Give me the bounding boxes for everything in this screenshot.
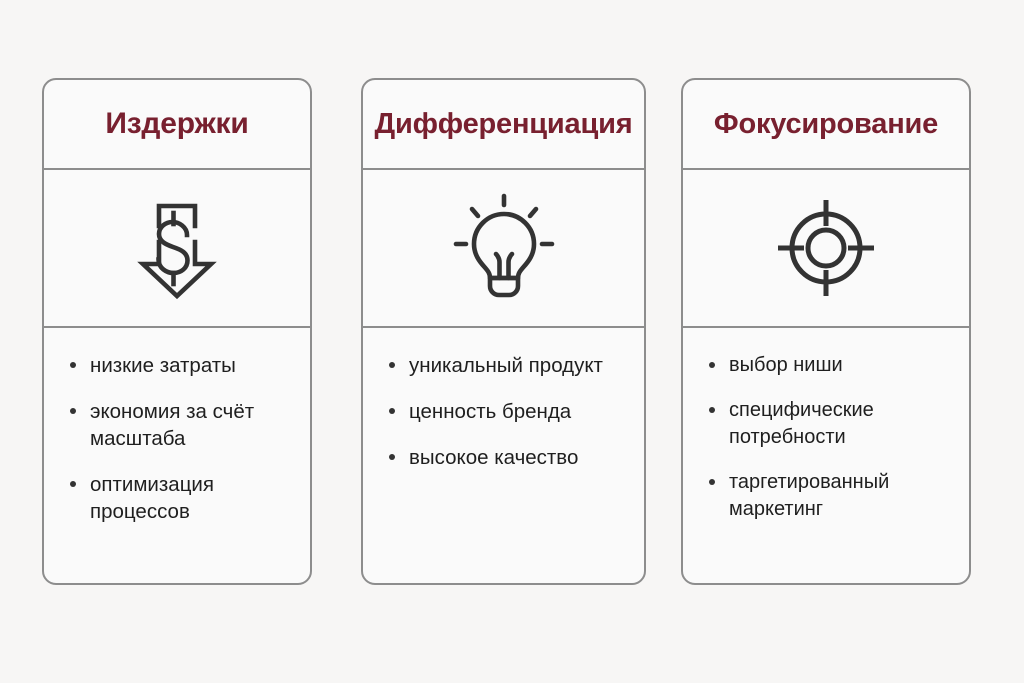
bullet-list: уникальный продукт ценность бренда высок… <box>377 352 630 471</box>
list-item: ценность бренда <box>377 398 630 425</box>
list-item: экономия за счёт масштаба <box>58 398 296 452</box>
list-item: оптимизация процессов <box>58 471 296 525</box>
card-bullet-section: уникальный продукт ценность бренда высок… <box>363 328 644 583</box>
bullet-list: выбор ниши специфические потребности тар… <box>697 352 955 522</box>
card-title: Дифференциация <box>375 108 633 141</box>
card-icon-section <box>683 170 969 328</box>
card-title: Издержки <box>105 107 248 141</box>
strategy-card-differentiation[interactable]: Дифференциация <box>361 78 646 585</box>
strategy-card-cost-leadership[interactable]: Издержки низкие затраты экономия за с <box>42 78 312 585</box>
card-icon-section <box>44 170 310 328</box>
bullet-list: низкие затраты экономия за счёт масштаба… <box>58 352 296 525</box>
card-title: Фокусирование <box>714 108 938 141</box>
lightbulb-icon <box>452 192 556 304</box>
strategy-cards-board: Издержки низкие затраты экономия за с <box>0 0 1024 683</box>
list-item: уникальный продукт <box>377 352 630 379</box>
crosshair-target-icon <box>774 196 878 300</box>
list-item: специфические потребности <box>697 397 955 450</box>
list-item: низкие затраты <box>58 352 296 379</box>
list-item: таргетированный маркетинг <box>697 469 955 522</box>
card-bullet-section: выбор ниши специфические потребности тар… <box>683 328 969 583</box>
card-title-section: Издержки <box>44 80 310 170</box>
list-item: высокое качество <box>377 444 630 471</box>
card-title-section: Фокусирование <box>683 80 969 170</box>
card-bullet-section: низкие затраты экономия за счёт масштаба… <box>44 328 310 583</box>
dollar-down-arrow-icon <box>132 192 222 304</box>
card-title-section: Дифференциация <box>363 80 644 170</box>
strategy-card-focus[interactable]: Фокусирование выбор ниши специфические п… <box>681 78 971 585</box>
list-item: выбор ниши <box>697 352 955 378</box>
card-icon-section <box>363 170 644 328</box>
